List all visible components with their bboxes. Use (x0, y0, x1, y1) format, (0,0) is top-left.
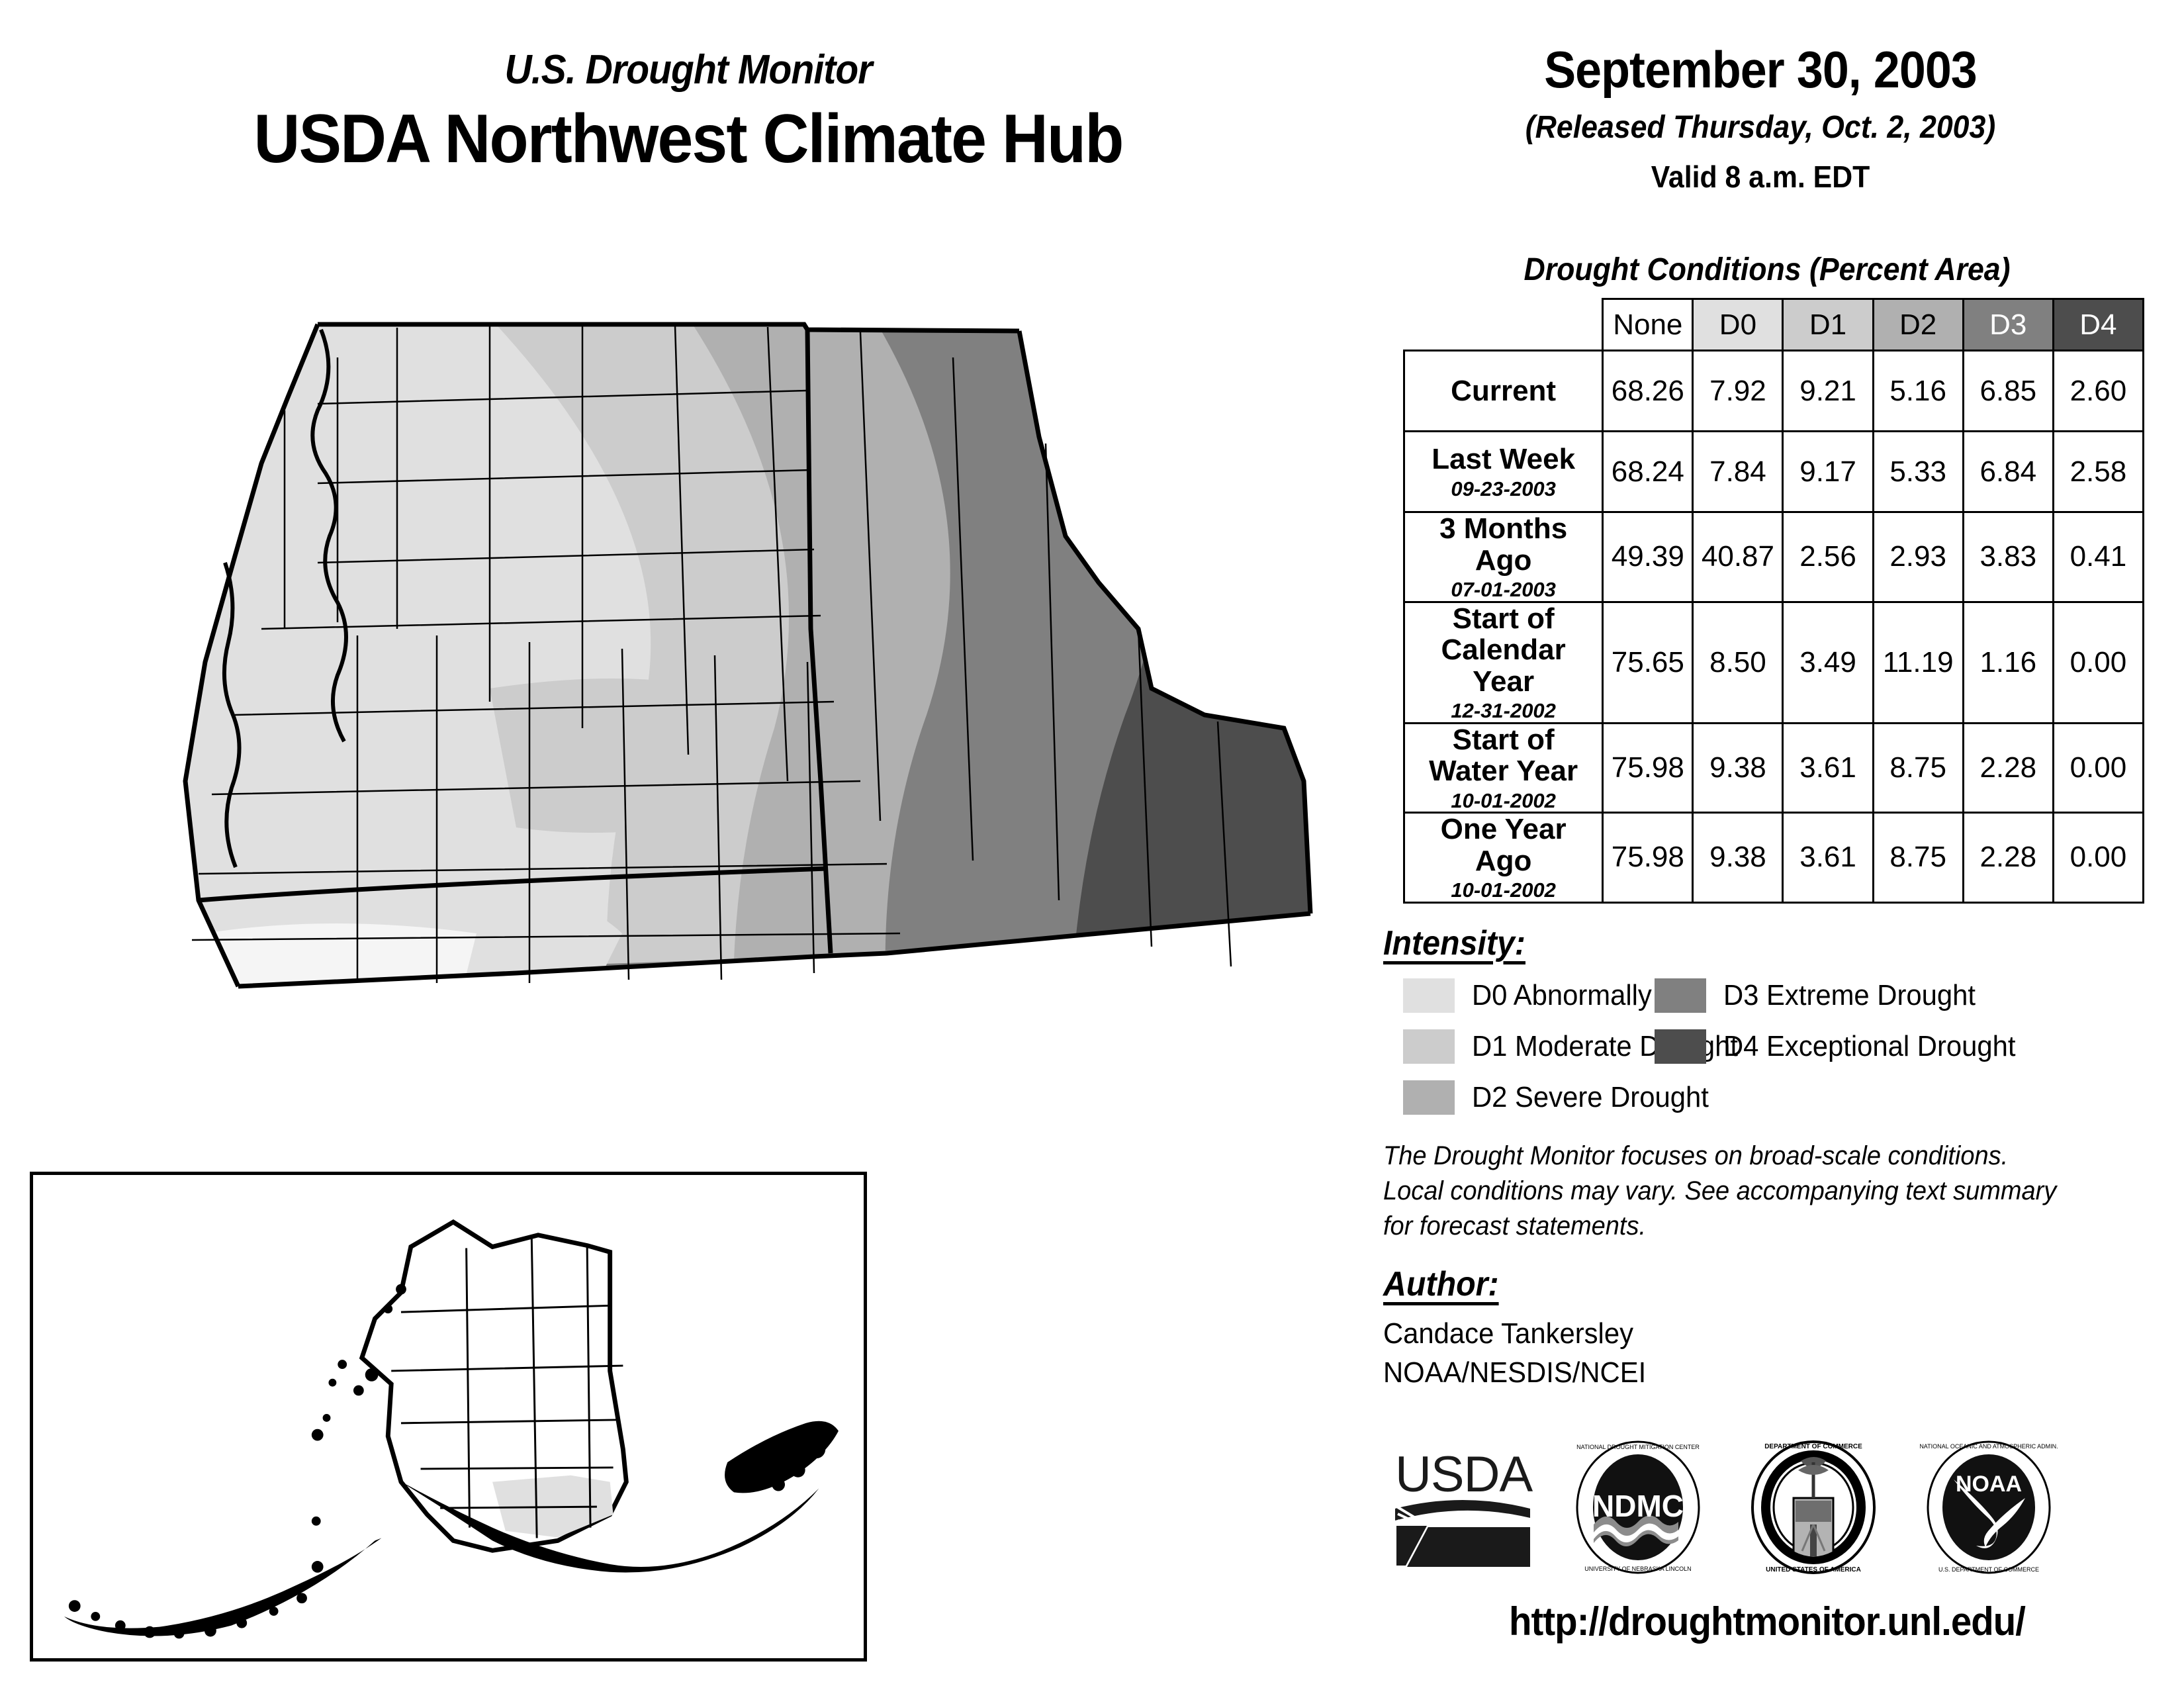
cell-d4: 0.00 (2053, 602, 2143, 723)
legend-label-d4: D4 Exceptional Drought (1723, 1030, 2015, 1063)
row-label-date: 09-23-2003 (1409, 478, 1598, 500)
table-row: One Year Ago10-01-200275.989.383.618.752… (1404, 813, 2144, 903)
cell-d4: 0.00 (2053, 813, 2143, 903)
cell-d0: 8.50 (1693, 602, 1783, 723)
row-label: Current (1404, 351, 1603, 432)
cell-d4: 0.41 (2053, 512, 2143, 602)
table-row: Last Week09-23-200368.247.849.175.336.84… (1404, 432, 2144, 512)
table-col-header-d4: D4 (2053, 299, 2143, 351)
legend-item-d4: D4 Exceptional Drought (1655, 1029, 2031, 1064)
intensity-heading: Intensity: (1383, 923, 1525, 963)
cell-d2: 5.33 (1873, 432, 1963, 512)
pacific-northwest-drought-map[interactable] (119, 318, 1324, 1132)
cell-d4: 2.60 (2053, 351, 2143, 432)
cell-d3: 2.28 (1963, 723, 2053, 813)
row-label: Last Week09-23-2003 (1404, 432, 1603, 512)
table-header-row: NoneD0D1D2D3D4 (1404, 299, 2144, 351)
cell-none: 75.65 (1603, 602, 1693, 723)
cell-d0: 9.38 (1693, 723, 1783, 813)
table-corner-cell (1404, 299, 1603, 351)
cell-d3: 2.28 (1963, 813, 2053, 903)
title-block: U.S. Drought Monitor USDA Northwest Clim… (40, 46, 1337, 179)
legend-label-d2: D2 Severe Drought (1472, 1081, 1709, 1114)
author-affiliation: NOAA/NESDIS/NCEI (1383, 1353, 1646, 1392)
cell-d0: 7.84 (1693, 432, 1783, 512)
table-header: NoneD0D1D2D3D4 (1404, 299, 2144, 351)
cell-d2: 8.75 (1873, 723, 1963, 813)
legend-item-d2: D2 Severe Drought (1403, 1080, 1721, 1115)
row-label-date: 10-01-2002 (1409, 879, 1598, 901)
row-label-date: 07-01-2003 (1409, 579, 1598, 600)
svg-text:NDMC: NDMC (1592, 1489, 1684, 1523)
row-label-date: 10-01-2002 (1409, 790, 1598, 812)
valid-date: September 30, 2003 (1407, 40, 2113, 100)
date-block: September 30, 2003 (Released Thursday, O… (1377, 40, 2144, 195)
cell-d3: 3.83 (1963, 512, 2053, 602)
table-row: Current68.267.929.215.166.852.60 (1404, 351, 2144, 432)
cell-d1: 3.61 (1783, 813, 1873, 903)
legend-swatch-d0 (1403, 978, 1455, 1013)
website-url[interactable]: http://droughtmonitor.unl.edu/ (1400, 1599, 2134, 1644)
cell-none: 68.24 (1603, 432, 1693, 512)
table-col-header-d3: D3 (1963, 299, 2053, 351)
usda-logo: USDA (1390, 1440, 1535, 1572)
row-label: Start ofWater Year10-01-2002 (1404, 723, 1603, 813)
legend-item-d3: D3 Extreme Drought (1655, 978, 1989, 1013)
cell-d0: 7.92 (1693, 351, 1783, 432)
table-row: 3 Months Ago07-01-200349.3940.872.562.93… (1404, 512, 2144, 602)
row-label-date: 12-31-2002 (1409, 700, 1598, 722)
cell-d1: 9.21 (1783, 351, 1873, 432)
cell-d4: 0.00 (2053, 723, 2143, 813)
cell-none: 75.98 (1603, 723, 1693, 813)
cell-d0: 9.38 (1693, 813, 1783, 903)
table-body: Current68.267.929.215.166.852.60Last Wee… (1404, 351, 2144, 903)
disclaimer-text: The Drought Monitor focuses on broad-sca… (1383, 1139, 2075, 1243)
cell-d0: 40.87 (1693, 512, 1783, 602)
table-col-header-none: None (1603, 299, 1693, 351)
legend-swatch-d4 (1655, 1029, 1706, 1064)
svg-text:UNIVERSITY OF NEBRASKA LINCOLN: UNIVERSITY OF NEBRASKA LINCOLN (1584, 1566, 1691, 1572)
svg-text:UNITED STATES OF AMERICA: UNITED STATES OF AMERICA (1766, 1566, 1861, 1573)
svg-text:NATIONAL OCEANIC AND ATMOSPHER: NATIONAL OCEANIC AND ATMOSPHERIC ADMIN. (1919, 1443, 2058, 1450)
valid-time: Valid 8 a.m. EDT (1404, 159, 2118, 195)
cell-d3: 1.16 (1963, 602, 2053, 723)
table-col-header-d2: D2 (1873, 299, 1963, 351)
cell-none: 68.26 (1603, 351, 1693, 432)
cell-d3: 6.84 (1963, 432, 2053, 512)
alaska-landmass (64, 1222, 839, 1638)
ndmc-logo: NDMC NATIONAL DROUGHT MITIGATION CENTER … (1569, 1440, 1707, 1575)
row-label: Start ofCalendar Year12-31-2002 (1404, 602, 1603, 723)
cell-d1: 2.56 (1783, 512, 1873, 602)
southeast-alaska-panhandle (725, 1421, 839, 1493)
cell-d2: 8.75 (1873, 813, 1963, 903)
cell-d3: 6.85 (1963, 351, 2053, 432)
svg-text:DEPARTMENT OF COMMERCE: DEPARTMENT OF COMMERCE (1764, 1443, 1862, 1450)
svg-text:U.S. DEPARTMENT OF COMMERCE: U.S. DEPARTMENT OF COMMERCE (1938, 1566, 2039, 1573)
aleutian-islands (64, 1517, 381, 1638)
svg-text:NATIONAL DROUGHT MITIGATION CE: NATIONAL DROUGHT MITIGATION CENTER (1576, 1444, 1700, 1450)
table-col-header-d0: D0 (1693, 299, 1783, 351)
table-row: Start ofWater Year10-01-200275.989.383.6… (1404, 723, 2144, 813)
page-title: USDA Northwest Climate Hub (85, 100, 1292, 179)
released-date: (Released Thursday, Oct. 2, 2003) (1404, 109, 2118, 146)
legend-label-d3: D3 Extreme Drought (1723, 979, 1976, 1012)
author-block: Candace Tankersley NOAA/NESDIS/NCEI (1383, 1314, 1646, 1393)
svg-text:USDA: USDA (1395, 1446, 1533, 1503)
cell-d2: 11.19 (1873, 602, 1963, 723)
drought-monitor-eyebrow: U.S. Drought Monitor (91, 46, 1285, 93)
alaska-drought-inset[interactable] (30, 1172, 867, 1662)
cell-d1: 9.17 (1783, 432, 1873, 512)
row-label: 3 Months Ago07-01-2003 (1404, 512, 1603, 602)
author-heading: Author: (1383, 1264, 1499, 1304)
noaa-logo: NOAA NATIONAL OCEANIC AND ATMOSPHERIC AD… (1919, 1440, 2058, 1575)
cell-d1: 3.49 (1783, 602, 1873, 723)
legend-swatch-d3 (1655, 978, 1706, 1013)
author-name: Candace Tankersley (1383, 1314, 1646, 1353)
cell-d2: 2.93 (1873, 512, 1963, 602)
legend-swatch-d1 (1403, 1029, 1455, 1064)
row-label: One Year Ago10-01-2002 (1404, 813, 1603, 903)
cell-d1: 3.61 (1783, 723, 1873, 813)
cell-none: 49.39 (1603, 512, 1693, 602)
cell-d2: 5.16 (1873, 351, 1963, 432)
svg-text:NOAA: NOAA (1956, 1472, 2022, 1497)
table-row: Start ofCalendar Year12-31-200275.658.50… (1404, 602, 2144, 723)
logo-row: USDA NDMC NATIONAL DROUGHT MITIGATION CE… (1383, 1440, 2144, 1579)
table-col-header-d1: D1 (1783, 299, 1873, 351)
cell-none: 75.98 (1603, 813, 1693, 903)
drought-conditions-table: NoneD0D1D2D3D4 Current68.267.929.215.166… (1403, 298, 2144, 904)
department-of-commerce-seal: DEPARTMENT OF COMMERCE UNITED STATES OF … (1744, 1440, 1883, 1575)
legend-swatch-d2 (1403, 1080, 1455, 1115)
cell-d4: 2.58 (2053, 432, 2143, 512)
table-caption: Drought Conditions (Percent Area) (1404, 252, 2130, 288)
